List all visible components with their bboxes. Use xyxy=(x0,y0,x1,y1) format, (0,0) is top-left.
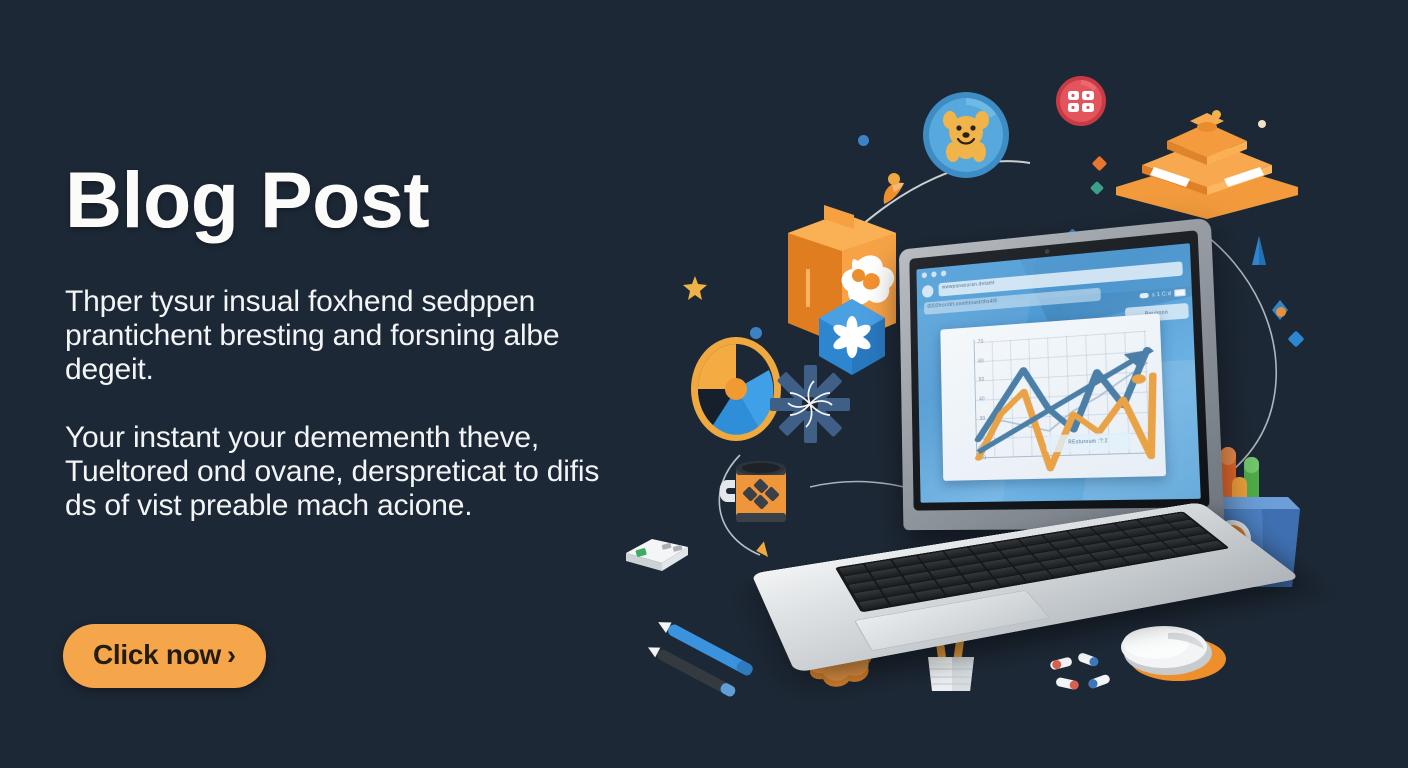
laptop-bezel: wwwpanasuran.detamt 0002fror/d/t.onnthtn… xyxy=(909,230,1209,510)
accent-dot-blue xyxy=(858,135,869,146)
webcam-icon xyxy=(1044,249,1049,254)
window-dot-1[interactable] xyxy=(922,272,927,278)
hero-illustration: wwwpanasuran.detamt 0002fror/d/t.onnthtn… xyxy=(600,35,1408,755)
status-text: s 1 C:d xyxy=(1152,290,1171,298)
window-dot-2[interactable] xyxy=(931,271,936,277)
blue-cone-icon xyxy=(1250,235,1268,267)
dog-coin-icon xyxy=(922,90,1010,180)
window-dot-3[interactable] xyxy=(941,270,946,276)
orange-mug-icon xyxy=(722,450,802,530)
red-badge-icon xyxy=(1055,75,1107,127)
poster-canvas: Blog Post Thper tysur insual foxhend sed… xyxy=(0,0,1408,768)
page-title: Blog Post xyxy=(65,160,605,239)
star-icon xyxy=(682,275,708,301)
hero-copy: Blog Post Thper tysur insual foxhend sed… xyxy=(65,160,605,523)
hero-paragraph-1: Thper tysur insual foxhend sedppen prant… xyxy=(65,285,605,387)
orange-pyramid-icon xyxy=(1112,103,1302,221)
address-text: wwwpanasuran.detamt xyxy=(939,261,1183,292)
cloud-icon xyxy=(1140,293,1149,299)
chevron-right-icon: › xyxy=(227,642,236,669)
chalk-pieces-icon xyxy=(1048,653,1123,698)
accent-dot-blue-2 xyxy=(750,327,762,339)
hero-paragraph-2: Your instant your demementh theve, Tuelt… xyxy=(65,421,605,523)
chart-footer-label: REsturoum :?:2 xyxy=(1068,439,1108,446)
window-controls[interactable] xyxy=(922,270,947,278)
accent-dot-yellow xyxy=(888,173,900,185)
accent-dot-orange-2 xyxy=(1276,307,1286,317)
chart-card: 70 60 50 40 30 20 10 xyxy=(940,313,1166,480)
accent-dot-yellow-2 xyxy=(1212,110,1221,119)
chart-footer-pill[interactable]: REsturoum :?:2 xyxy=(1046,432,1131,452)
laptop-display: wwwpanasuran.detamt 0002fror/d/t.onnthtn… xyxy=(899,218,1225,531)
computer-mouse-icon xyxy=(1110,613,1232,683)
accent-dot-cream xyxy=(1258,120,1266,128)
desk-pens-icon xyxy=(648,621,773,701)
cta-label: Click now xyxy=(93,639,221,671)
battery-icon xyxy=(1174,289,1186,297)
click-now-button[interactable]: Click now › xyxy=(63,624,266,688)
blue-pinwheel-icon xyxy=(770,365,850,443)
chart-plot xyxy=(940,313,1166,480)
usb-drive-icon xyxy=(622,533,692,575)
laptop-screen-content: wwwpanasuran.detamt 0002fror/d/t.onnthtn… xyxy=(916,243,1200,503)
accent-dot-orange xyxy=(852,269,865,282)
favicon-icon xyxy=(922,284,934,297)
